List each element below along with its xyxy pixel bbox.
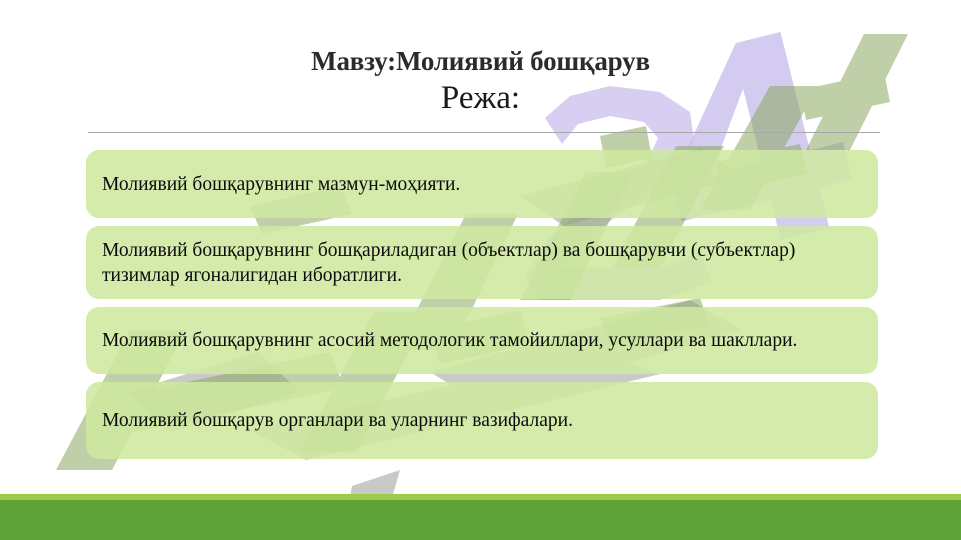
list-item: Молиявий бошқарувнинг бошқариладиган (об… xyxy=(86,226,878,299)
footer-band xyxy=(0,500,961,540)
page-title: Мавзу:Молиявий бошқарув xyxy=(0,44,961,78)
list-item-text: Молиявий бошқарувнинг бошқариладиган (об… xyxy=(98,238,866,288)
presentation-slide: Мавзу:Молиявий бошқарув Режа: Молиявий б… xyxy=(0,0,961,540)
page-subtitle: Режа: xyxy=(0,78,961,118)
list-item-text: Молиявий бошқарувнинг асосий методологик… xyxy=(98,328,801,353)
list-item: Молиявий бошқарув органлари ва уларнинг … xyxy=(86,382,878,459)
title-divider xyxy=(88,132,880,133)
list-item: Молиявий бошқарувнинг асосий методологик… xyxy=(86,307,878,374)
list-item: Молиявий бошқарувнинг мазмун-моҳияти. xyxy=(86,150,878,218)
list-item-text: Молиявий бошқарувнинг мазмун-моҳияти. xyxy=(98,172,464,197)
title-block: Мавзу:Молиявий бошқарув Режа: xyxy=(0,44,961,118)
list-item-text: Молиявий бошқарув органлари ва уларнинг … xyxy=(98,408,577,433)
